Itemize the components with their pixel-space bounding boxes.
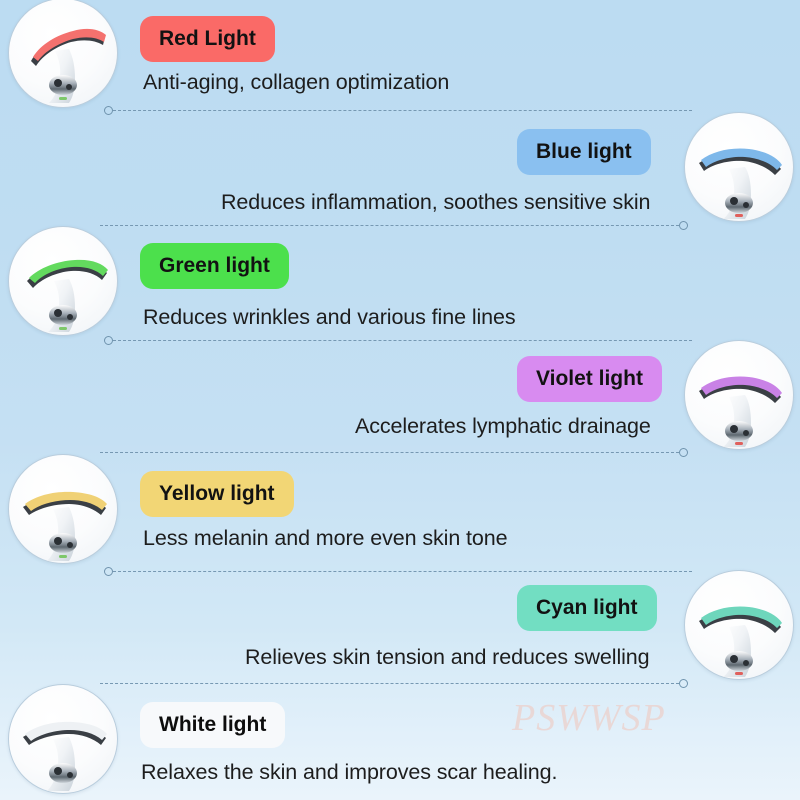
device-thumbnail-red: [8, 0, 118, 108]
mode-description-cyan: Relieves skin tension and reduces swelli…: [245, 645, 650, 670]
mode-label-text: White light: [159, 713, 266, 737]
mode-label-text: Cyan light: [536, 596, 638, 620]
mode-description-red: Anti-aging, collagen optimization: [143, 70, 449, 95]
connector-violet: [100, 447, 688, 457]
connector-dot: [104, 567, 113, 576]
connector-dash: [100, 452, 679, 453]
connector-dash: [113, 340, 692, 341]
device-thumbnail-blue: [684, 112, 794, 222]
connector-dash: [113, 110, 692, 111]
mode-description-violet: Accelerates lymphatic drainage: [355, 414, 651, 439]
mode-label-text: Green light: [159, 254, 270, 278]
connector-dash: [113, 571, 692, 572]
mode-label-blue[interactable]: Blue light: [517, 129, 651, 175]
mode-label-text: Yellow light: [159, 482, 275, 506]
mode-label-text: Violet light: [536, 367, 643, 391]
mode-description-green: Reduces wrinkles and various fine lines: [143, 305, 516, 330]
device-thumbnail-violet: [684, 340, 794, 450]
mode-label-white[interactable]: White light: [140, 702, 285, 748]
mode-label-violet[interactable]: Violet light: [517, 356, 662, 402]
mode-description-yellow: Less melanin and more even skin tone: [143, 526, 508, 551]
connector-dot: [679, 679, 688, 688]
connector-dot: [104, 106, 113, 115]
connector-dot: [104, 336, 113, 345]
mode-label-text: Red Light: [159, 27, 256, 51]
connector-dot: [679, 448, 688, 457]
device-thumbnail-yellow: [8, 454, 118, 564]
device-thumbnail-cyan: [684, 570, 794, 680]
device-thumbnail-green: [8, 226, 118, 336]
connector-yellow: [104, 566, 692, 576]
led-therapy-infographic: Red Light Anti-aging, collagen optimizat…: [0, 0, 800, 800]
connector-red: [104, 105, 692, 115]
connector-cyan: [100, 678, 688, 688]
connector-dot: [679, 221, 688, 230]
mode-label-green[interactable]: Green light: [140, 243, 289, 289]
connector-green: [104, 335, 692, 345]
mode-description-white: Relaxes the skin and improves scar heali…: [141, 760, 557, 785]
connector-dash: [100, 225, 679, 226]
watermark: PSWWSP: [512, 696, 666, 740]
connector-blue: [100, 220, 688, 230]
mode-label-yellow[interactable]: Yellow light: [140, 471, 294, 517]
mode-label-text: Blue light: [536, 140, 632, 164]
mode-description-blue: Reduces inflammation, soothes sensitive …: [221, 190, 650, 215]
mode-label-red[interactable]: Red Light: [140, 16, 275, 62]
mode-label-cyan[interactable]: Cyan light: [517, 585, 657, 631]
device-thumbnail-white: [8, 684, 118, 794]
connector-dash: [100, 683, 679, 684]
